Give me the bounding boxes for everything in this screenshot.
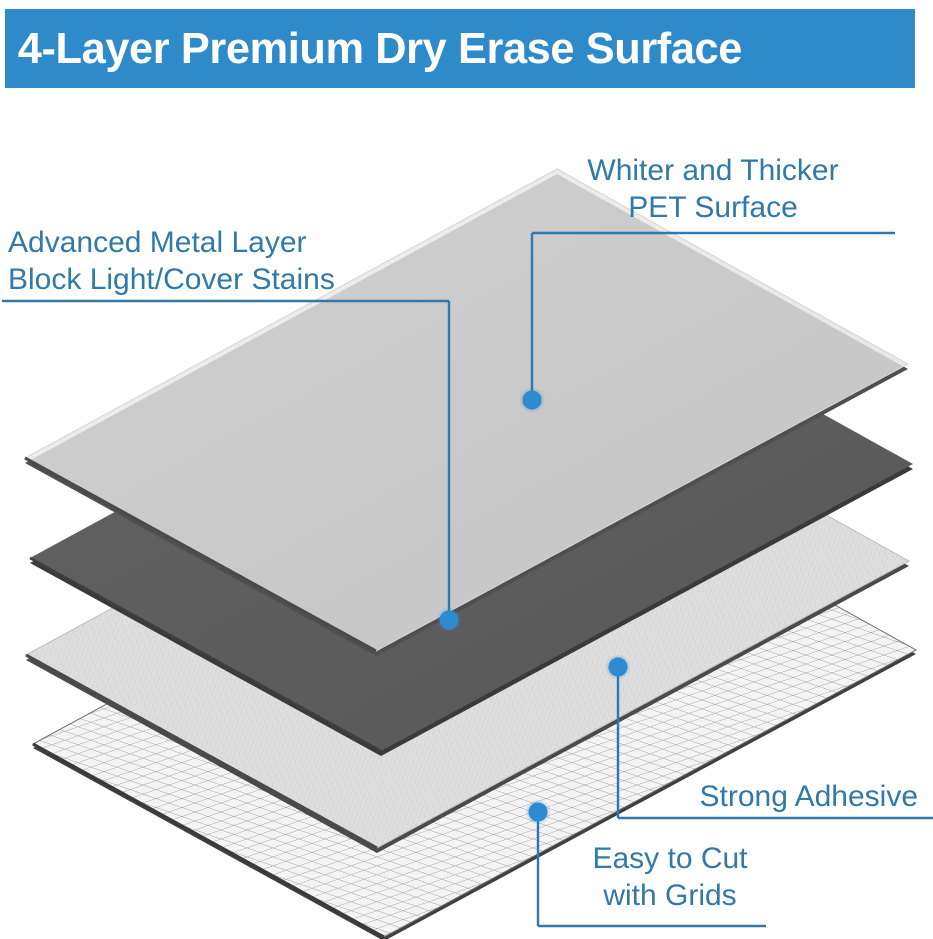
marker-dot-easy-to-cut [529, 803, 548, 822]
callout-pet-surface-line-1: Whiter and Thicker [528, 152, 898, 189]
callout-easy-to-cut: Easy to Cut with Grids [520, 840, 820, 914]
callout-adhesive: Strong Adhesive [560, 778, 918, 815]
callout-metal-layer-line-2: Block Light/Cover Stains [8, 261, 428, 298]
callout-easy-to-cut-line-2: with Grids [520, 877, 820, 914]
marker-dot-metal-layer [440, 611, 459, 630]
callout-metal-layer: Advanced Metal Layer Block Light/Cover S… [8, 224, 428, 298]
callout-pet-surface-line-2: PET Surface [528, 189, 898, 226]
callout-easy-to-cut-line-1: Easy to Cut [520, 840, 820, 877]
callout-adhesive-line-1: Strong Adhesive [560, 778, 918, 815]
infographic-stage: 4-Layer Premium Dry Erase Surface [0, 0, 933, 939]
callout-metal-layer-line-1: Advanced Metal Layer [8, 224, 428, 261]
marker-dot-pet-surface [523, 391, 542, 410]
callout-pet-surface: Whiter and Thicker PET Surface [528, 152, 898, 226]
marker-dot-adhesive [609, 658, 628, 677]
